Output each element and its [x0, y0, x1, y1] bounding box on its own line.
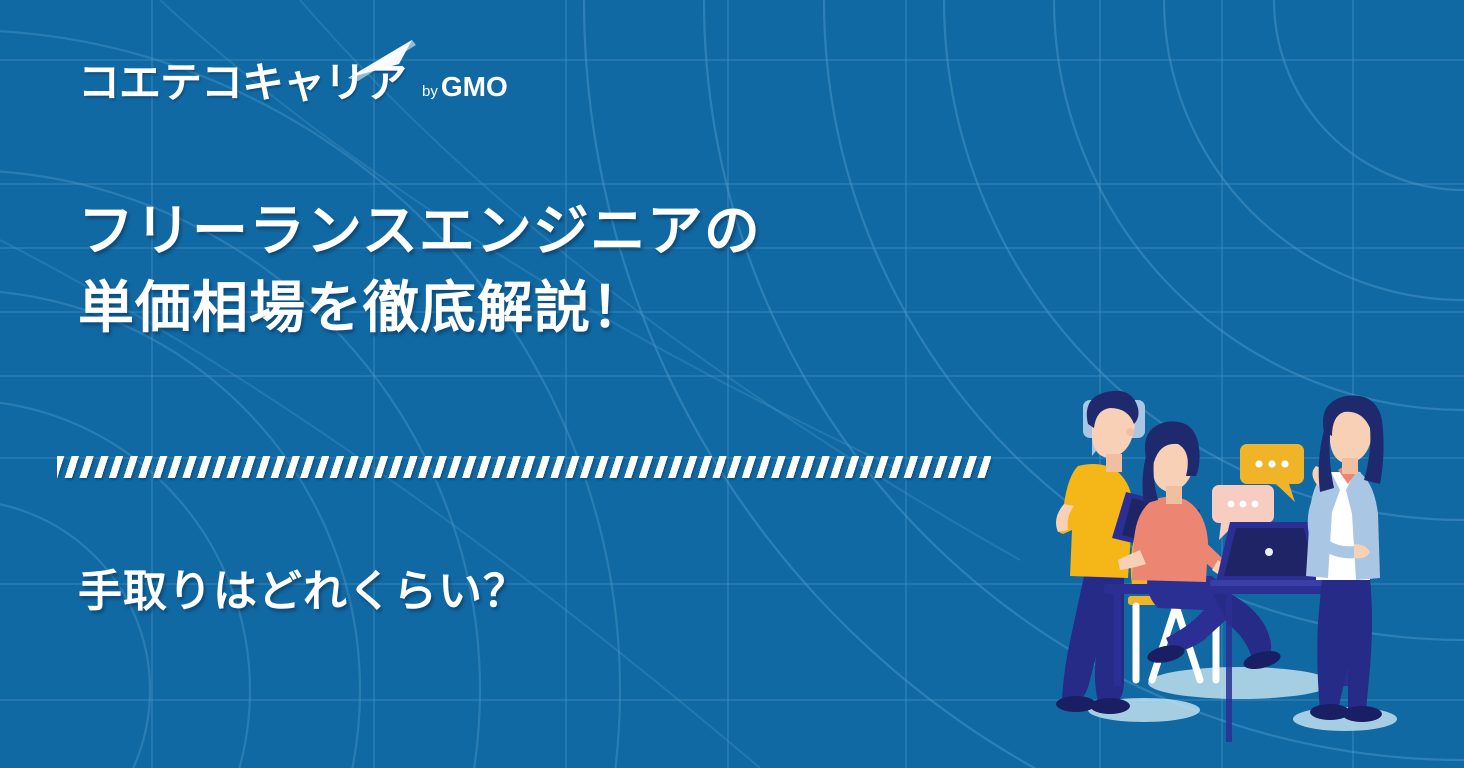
- logo-by-label: by: [422, 84, 438, 99]
- logo-brand-text: コエテコキャリア: [78, 62, 406, 104]
- page-subtitle: 手取りはどれくらい？: [78, 566, 528, 619]
- arrow-swoosh-icon: [342, 38, 420, 82]
- site-logo[interactable]: コエテコキャリア by GMO: [78, 62, 508, 104]
- logo-gmo-label: GMO: [441, 73, 508, 101]
- three-people-discussion-illustration: [1040, 380, 1440, 750]
- logo-by-gmo: by GMO: [422, 73, 508, 104]
- hero-banner: コエテコキャリア by GMO フリーランスエンジニアの 単価相場を徹底解説！ …: [0, 0, 1464, 768]
- page-title: フリーランスエンジニアの 単価相場を徹底解説！: [78, 192, 761, 347]
- hatched-divider: [57, 456, 991, 478]
- standing-woman-right: [1306, 396, 1384, 723]
